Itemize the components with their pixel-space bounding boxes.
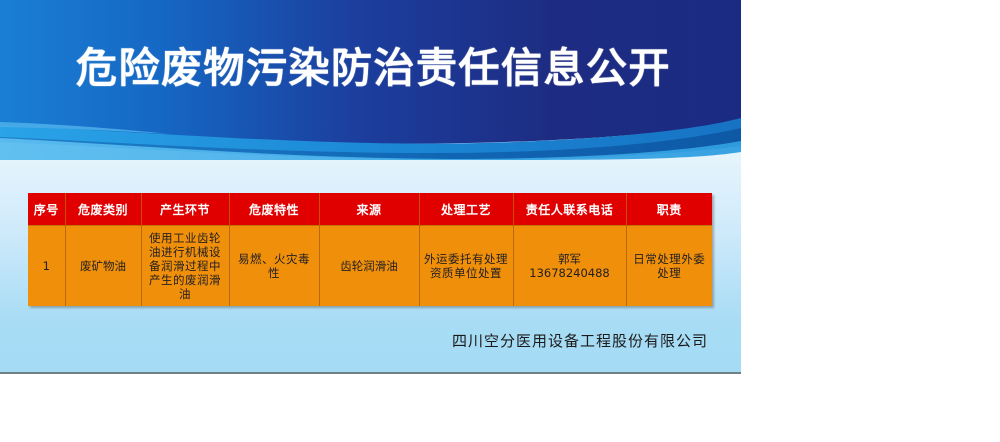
cell-category: 废矿物油 xyxy=(65,226,141,307)
information-disclosure-poster: 危险废物污染防治责任信息公开 序号 危废类别 产生环节 危废特性 来源 处理工艺… xyxy=(0,0,741,374)
column-header-index: 序号 xyxy=(28,193,65,226)
cell-treatment-process: 外运委托有处理资质单位处置 xyxy=(419,226,513,307)
column-header-category: 危废类别 xyxy=(65,193,141,226)
cell-index: 1 xyxy=(28,226,65,307)
table-header-row: 序号 危废类别 产生环节 危废特性 来源 处理工艺 责任人联系电话 职责 xyxy=(28,193,712,226)
cell-duty: 日常处理外委处理 xyxy=(626,226,712,307)
column-header-treatment: 处理工艺 xyxy=(419,193,513,226)
responsible-person-phone: 13678240488 xyxy=(517,266,623,280)
responsible-person-name: 郭军 xyxy=(517,252,623,266)
page-title: 危险废物污染防治责任信息公开 xyxy=(0,0,741,128)
poster-banner: 危险废物污染防治责任信息公开 xyxy=(0,0,741,160)
cell-hazard-property: 易燃、火灾毒性 xyxy=(229,226,319,307)
cell-generation-stage: 使用工业齿轮油进行机械设备润滑过程中产生的废润滑油 xyxy=(141,226,229,307)
column-header-duty: 职责 xyxy=(626,193,712,226)
table-row: 1 废矿物油 使用工业齿轮油进行机械设备润滑过程中产生的废润滑油 易燃、火灾毒性… xyxy=(28,226,712,307)
column-header-source: 来源 xyxy=(319,193,419,226)
column-header-responsible-phone: 责任人联系电话 xyxy=(513,193,626,226)
column-header-hazard-property: 危废特性 xyxy=(229,193,319,226)
cell-responsible-contact: 郭军 13678240488 xyxy=(513,226,626,307)
company-name: 四川空分医用设备工程股份有限公司 xyxy=(28,330,712,351)
hazardous-waste-table: 序号 危废类别 产生环节 危废特性 来源 处理工艺 责任人联系电话 职责 1 废… xyxy=(28,193,712,306)
cell-source: 齿轮润滑油 xyxy=(319,226,419,307)
column-header-generation-stage: 产生环节 xyxy=(141,193,229,226)
